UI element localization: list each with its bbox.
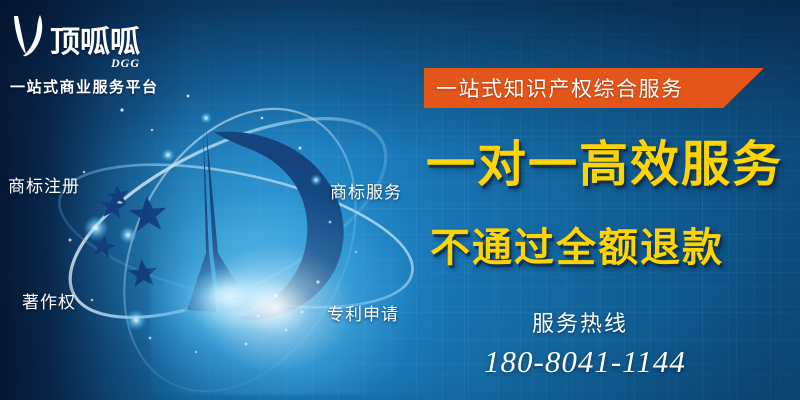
service-label-patent-application: 专利申请 <box>327 300 399 325</box>
logo-brand-cn: 顶呱呱 <box>50 28 140 58</box>
logo-brand-en: DGG <box>111 56 140 71</box>
service-label-trademark-service: 商标服务 <box>330 178 402 203</box>
leaf-mark-icon <box>10 12 48 58</box>
service-label-copyright: 著作权 <box>22 288 76 313</box>
sub-headline: 不通过全额退款 <box>430 228 724 268</box>
logo-wordmark-wrap: 顶呱呱 DGG <box>50 28 140 58</box>
ribbon-text: 一站式知识产权综合服务 <box>424 68 764 108</box>
headline: 一对一高效服务 <box>426 140 783 189</box>
hotline-label: 服务热线 <box>532 306 628 338</box>
logo-row: 顶呱呱 DGG <box>10 12 190 58</box>
promo-banner: 顶呱呱 DGG 一站式商业服务平台 商标注册 著作权 商标服务 专利申请 一站式… <box>0 0 800 400</box>
promo-column: 一站式知识产权综合服务 一对一高效服务 不通过全额退款 服务热线 180-804… <box>424 0 800 400</box>
logo-tagline: 一站式商业服务平台 <box>10 76 190 97</box>
hotline-number[interactable]: 180-8041-1144 <box>484 344 686 380</box>
brand-logo[interactable]: 顶呱呱 DGG 一站式商业服务平台 <box>10 12 190 97</box>
ribbon-banner: 一站式知识产权综合服务 <box>424 68 764 108</box>
service-label-trademark-registration: 商标注册 <box>8 172 80 197</box>
